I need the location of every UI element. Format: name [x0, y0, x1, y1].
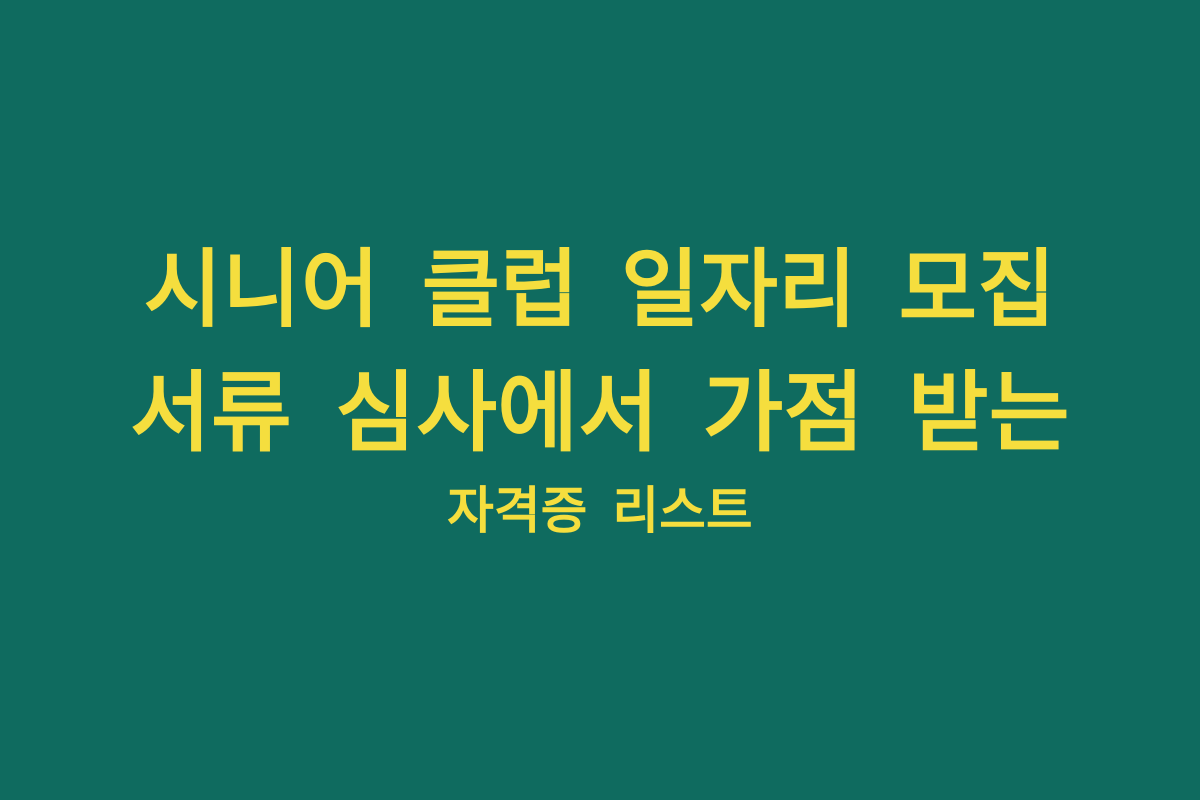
title-line-3: 자격증 리스트 [40, 476, 1160, 546]
thumbnail-card: 시니어 클럽 일자리 모집 서류 심사에서 가점 받는 자격증 리스트 [0, 0, 1200, 800]
title-line-2: 서류 심사에서 가점 받는 [40, 351, 1160, 475]
page-title: 시니어 클럽 일자리 모집 서류 심사에서 가점 받는 자격증 리스트 [40, 231, 1160, 546]
title-line-1: 시니어 클럽 일자리 모집 [40, 231, 1160, 352]
